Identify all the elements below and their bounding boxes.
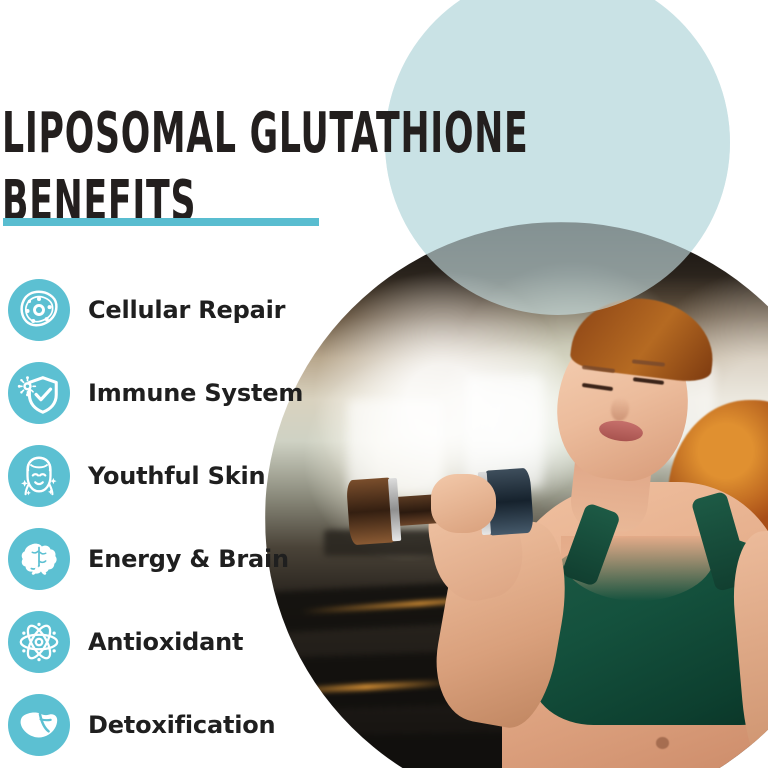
cell-icon xyxy=(8,279,70,341)
brain-icon xyxy=(8,528,70,590)
list-item: Antioxidant xyxy=(0,600,330,683)
title-divider xyxy=(3,218,319,226)
shield-check-virus-icon xyxy=(8,362,70,424)
title-line-1: LIPOSOMAL GLUTATHIONE xyxy=(2,100,337,168)
list-item: Immune System xyxy=(0,351,330,434)
face-sparkle-icon xyxy=(8,445,70,507)
benefit-label: Antioxidant xyxy=(88,628,243,656)
list-item: Energy & Brain xyxy=(0,517,330,600)
list-item: Youthful Skin xyxy=(0,434,330,517)
list-item: Cellular Repair xyxy=(0,268,330,351)
benefit-label: Cellular Repair xyxy=(88,296,285,324)
page-title: LIPOSOMAL GLUTATHIONE BENEFITS xyxy=(2,100,337,236)
liver-icon xyxy=(8,694,70,756)
benefit-label: Youthful Skin xyxy=(88,462,265,490)
benefit-label: Energy & Brain xyxy=(88,545,289,573)
infographic-poster: LIPOSOMAL GLUTATHIONE BENEFITS xyxy=(0,0,768,768)
benefit-label: Detoxification xyxy=(88,711,275,739)
benefit-label: Immune System xyxy=(88,379,303,407)
list-item: Detoxification xyxy=(0,683,330,766)
atom-icon xyxy=(8,611,70,673)
benefits-list: Cellular Repair xyxy=(0,268,330,766)
